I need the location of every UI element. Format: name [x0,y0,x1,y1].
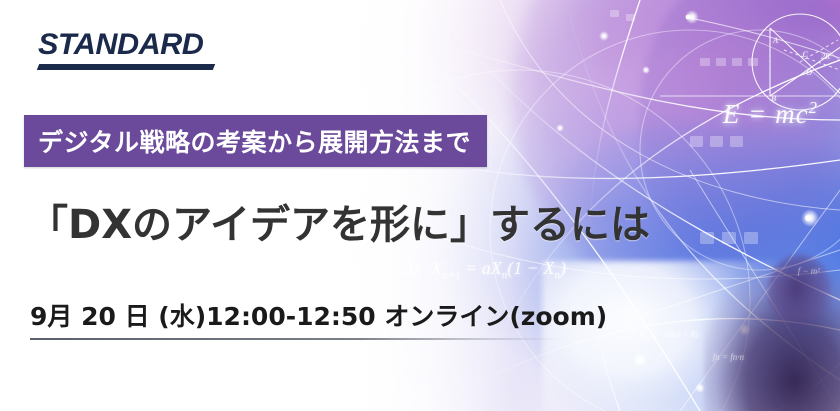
subtitle-ribbon-text: デジタル戦略の考案から展開方法まで [38,123,471,159]
standard-logo: STANDARD [38,30,218,70]
page-title: 「DXのアイデアを形に」するには [28,203,650,247]
event-details-underline [30,338,560,340]
seminar-banner: E = mc2 Δx Xn+1 = aXn(1 − Xn) Rn+1 = aR(… [0,0,840,411]
banner-content: STANDARD デジタル戦略の考案から展開方法まで 「DXのアイデアを形に」す… [0,0,840,411]
logo-underline-bar [37,64,215,70]
logo-wordmark: STANDARD [38,30,222,60]
event-datetime-text: 9月 20 日 (水)12:00-12:50 オンライン(zoom) [30,303,575,332]
event-details: 9月 20 日 (水)12:00-12:50 オンライン(zoom) [30,303,575,340]
subtitle-ribbon: デジタル戦略の考案から展開方法まで [24,115,487,167]
